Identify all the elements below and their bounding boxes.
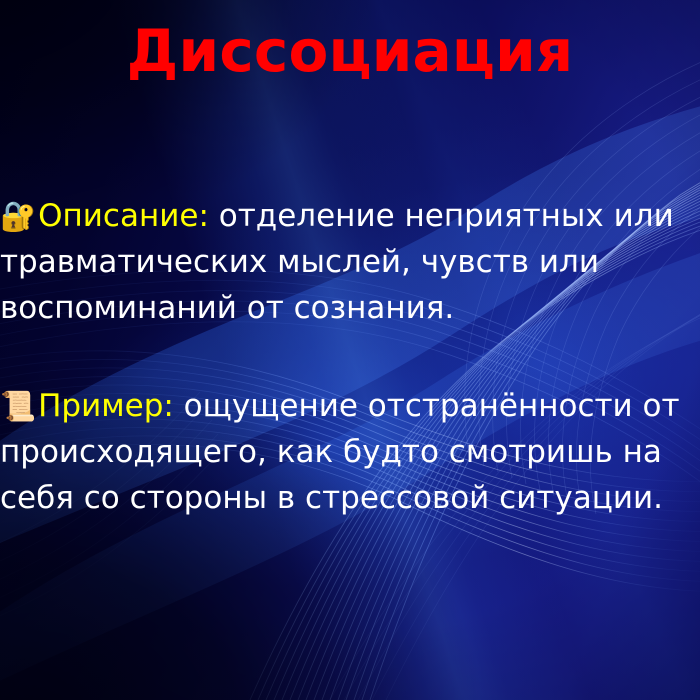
- locked-with-key-icon: 🔐: [0, 199, 36, 233]
- description-label: Описание:: [38, 198, 209, 234]
- example-paragraph: 📜Пример: ощущение отстранённости от прои…: [0, 383, 700, 521]
- description-paragraph: 🔐Описание: отделение неприятных или трав…: [0, 193, 700, 331]
- example-label: Пример:: [38, 388, 174, 424]
- presentation-slide: Диссоциация 🔐Описание: отделение неприят…: [0, 0, 700, 700]
- scroll-icon: 📜: [0, 389, 36, 423]
- slide-content: Диссоциация 🔐Описание: отделение неприят…: [0, 0, 700, 700]
- slide-title: Диссоциация: [0, 16, 700, 86]
